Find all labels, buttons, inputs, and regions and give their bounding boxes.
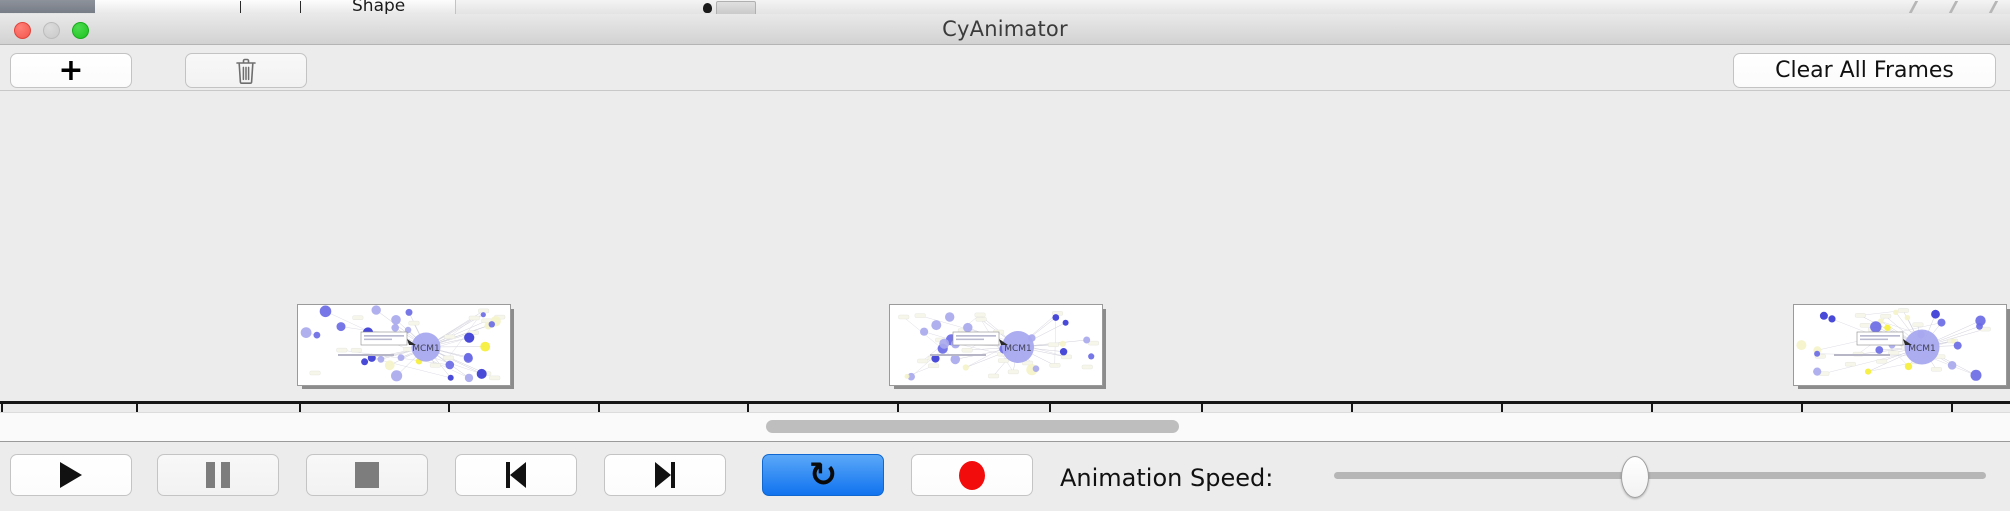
- previous-frame-button[interactable]: [455, 454, 577, 496]
- record-button[interactable]: [911, 454, 1033, 496]
- skip-back-icon: [506, 462, 526, 488]
- pause-button: [157, 454, 279, 496]
- window-title: CyAnimator: [0, 14, 2010, 44]
- background-cell: [175, 0, 236, 14]
- next-frame-button[interactable]: [604, 454, 726, 496]
- pause-icon: [206, 462, 230, 488]
- loop-icon: ↻: [809, 458, 838, 492]
- background-window-label: Shape: [352, 0, 405, 14]
- background-window-strip: Shape: [0, 0, 2010, 14]
- background-hatch: [1909, 1, 1931, 13]
- traffic-lights: [14, 22, 89, 39]
- background-hatch: [1949, 1, 1971, 13]
- stop-icon: [355, 462, 379, 488]
- frame-network-preview: MCM1: [297, 304, 511, 386]
- add-frame-button[interactable]: +: [10, 53, 132, 88]
- close-button[interactable]: [14, 22, 31, 39]
- timeline-panel[interactable]: MCM1 MCM1 MCM1 2131415161718 Seconds: [0, 91, 2010, 412]
- frame-1[interactable]: MCM1: [297, 304, 509, 384]
- title-bar[interactable]: CyAnimator: [0, 14, 2010, 45]
- background-cell: [95, 0, 176, 14]
- loop-button[interactable]: ↻: [762, 454, 884, 496]
- svg-text:MCM1: MCM1: [412, 344, 440, 354]
- timeline-axis: [0, 401, 2010, 404]
- background-marker: [703, 3, 712, 13]
- animation-speed-slider-track[interactable]: [1334, 472, 1986, 479]
- playback-control-bar: ↻ Animation Speed:: [0, 441, 2010, 511]
- cyanimator-window: Shape CyAnimator + Clear All Frames: [0, 0, 2010, 510]
- clear-all-frames-label: Clear All Frames: [1775, 58, 1954, 83]
- frame-network-preview: MCM1: [889, 304, 1103, 386]
- frame-network-preview: MCM1: [1793, 304, 2007, 386]
- background-window-sidebar: [0, 0, 95, 13]
- play-icon: [60, 462, 82, 488]
- animation-speed-label: Animation Speed:: [1060, 464, 1273, 492]
- background-hatch: [1989, 1, 2010, 13]
- timeline-scrollbar[interactable]: [0, 412, 2010, 441]
- background-tick: [300, 1, 301, 13]
- background-cell: [235, 0, 296, 14]
- delete-frame-button[interactable]: [185, 53, 307, 88]
- timeline-scrollbar-thumb[interactable]: [766, 420, 1179, 433]
- trash-icon: [235, 58, 257, 84]
- background-tick: [240, 1, 241, 13]
- minimize-button[interactable]: [43, 22, 60, 39]
- stop-button: [306, 454, 428, 496]
- zoom-button[interactable]: [72, 22, 89, 39]
- frame-2[interactable]: MCM1: [889, 304, 1101, 384]
- play-button[interactable]: [10, 454, 132, 496]
- record-icon: [959, 461, 985, 490]
- animation-speed-slider-knob[interactable]: [1621, 456, 1649, 498]
- svg-text:MCM1: MCM1: [1004, 344, 1032, 354]
- plus-icon: +: [58, 56, 83, 86]
- svg-text:MCM1: MCM1: [1908, 344, 1936, 354]
- clear-all-frames-button[interactable]: Clear All Frames: [1733, 53, 1996, 88]
- frame-3[interactable]: MCM1: [1793, 304, 2005, 384]
- toolbar: + Clear All Frames: [0, 45, 2010, 91]
- background-knob: [716, 1, 756, 14]
- skip-forward-icon: [655, 462, 675, 488]
- background-cell: [295, 0, 356, 14]
